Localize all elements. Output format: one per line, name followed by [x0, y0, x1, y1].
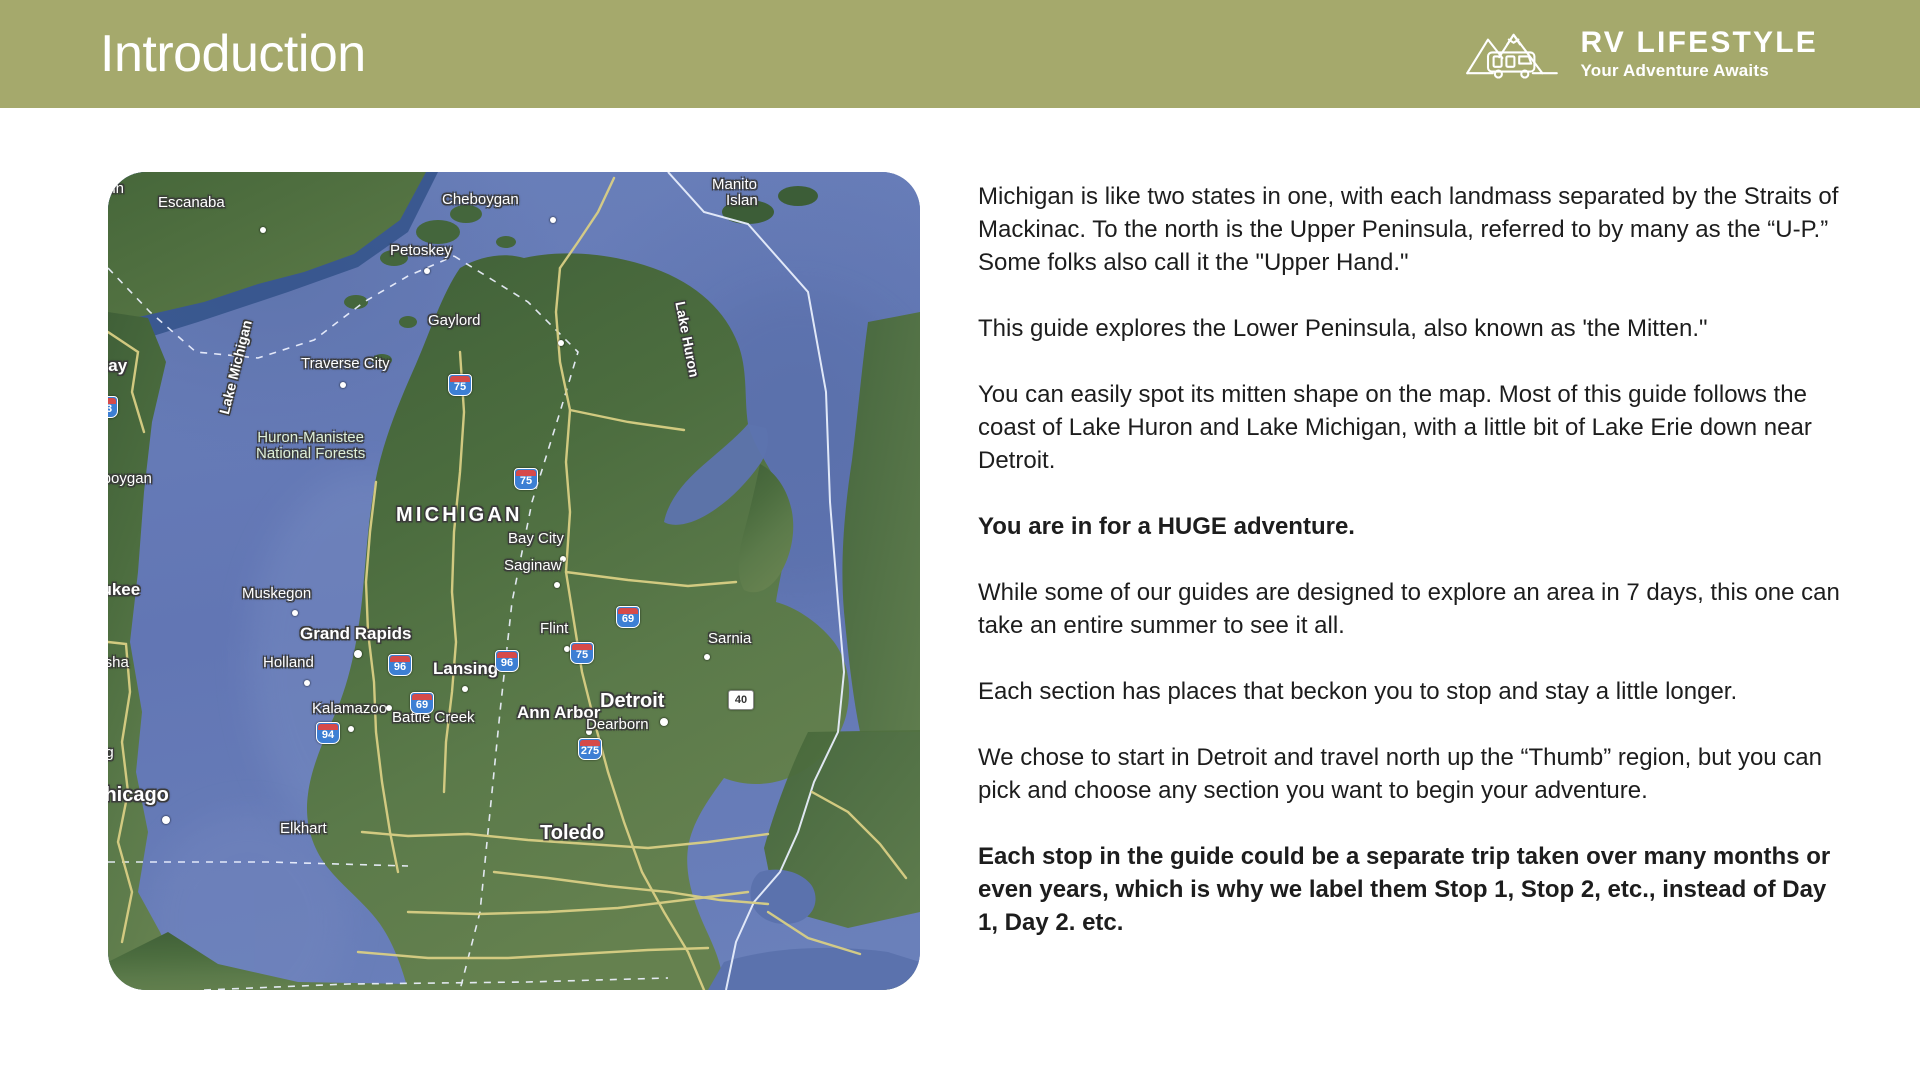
map-land-layer [108, 172, 920, 990]
michigan-satellite-map: ain Escanaba Cheboygan Petoskey Gaylord … [108, 172, 920, 990]
map-city-dot [554, 582, 560, 588]
brand-name: RV LIFESTYLE [1580, 27, 1818, 59]
brand-wordmark: RV LIFESTYLE Your Adventure Awaits [1580, 27, 1818, 81]
highway-shield-icon: 94 [316, 722, 340, 744]
map-city-dot [348, 726, 354, 732]
map-city-dot [386, 705, 392, 711]
highway-shield-icon: 96 [495, 650, 519, 672]
map-city-dot [292, 610, 298, 616]
map-city-dot [586, 729, 592, 735]
highway-shield-icon: 75 [448, 374, 472, 396]
mountain-rv-icon [1464, 22, 1560, 86]
highway-shield-icon: 75 [514, 468, 538, 490]
introduction-text: Michigan is like two states in one, with… [978, 180, 1846, 939]
map-city-dot [354, 650, 362, 658]
map-city-dot [424, 268, 430, 274]
map-canvas: ain Escanaba Cheboygan Petoskey Gaylord … [108, 172, 920, 990]
highway-shield-icon: 69 [616, 606, 640, 628]
brand-tagline: Your Adventure Awaits [1580, 61, 1768, 81]
paragraph: You can easily spot its mitten shape on … [978, 378, 1846, 477]
highway-shield-icon: 43 [108, 396, 118, 418]
paragraph: We chose to start in Detroit and travel … [978, 741, 1846, 807]
page-title: Introduction [100, 28, 366, 80]
map-city-dot [550, 217, 556, 223]
page-header: Introduction RV LIFESTYLE You [0, 0, 1920, 108]
highway-shield-icon: 75 [570, 642, 594, 664]
map-city-dot [340, 382, 346, 388]
paragraph: Each section has places that beckon you … [978, 675, 1846, 708]
map-city-dot [704, 654, 710, 660]
paragraph: While some of our guides are designed to… [978, 576, 1846, 642]
highway-shield-icon: 69 [410, 692, 434, 714]
paragraph-emphasis: You are in for a HUGE adventure. [978, 510, 1846, 543]
us-route-shield-icon: 40 [728, 690, 754, 710]
paragraph-emphasis: Each stop in the guide could be a separa… [978, 840, 1846, 939]
map-city-dot [462, 686, 468, 692]
brand-logo: RV LIFESTYLE Your Adventure Awaits [1464, 22, 1818, 86]
map-city-dot [260, 227, 266, 233]
paragraph: This guide explores the Lower Peninsula,… [978, 312, 1846, 345]
highway-shield-icon: 96 [388, 654, 412, 676]
map-city-dot [558, 340, 564, 346]
paragraph: Michigan is like two states in one, with… [978, 180, 1846, 279]
map-city-dot [162, 816, 170, 824]
map-city-dot [560, 556, 566, 562]
map-city-dot [304, 680, 310, 686]
map-city-dot [660, 718, 668, 726]
highway-shield-icon: 275 [578, 738, 602, 760]
